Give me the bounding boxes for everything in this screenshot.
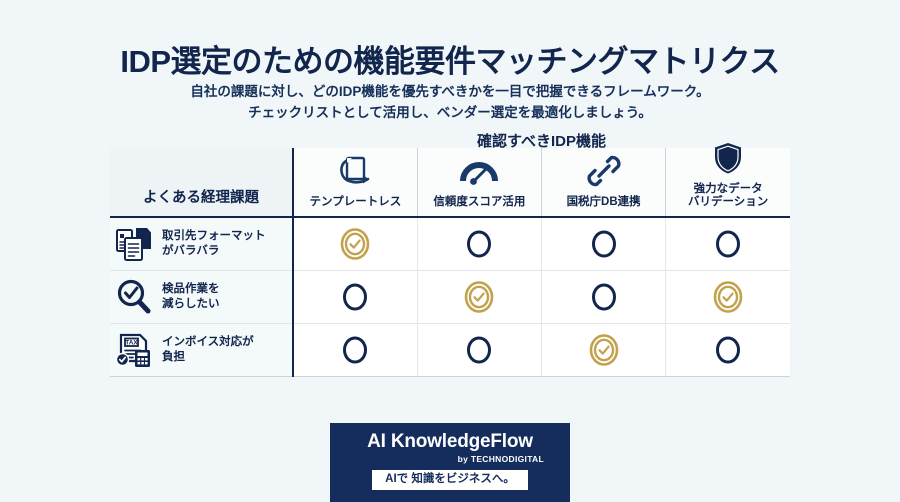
mark-cell — [293, 217, 417, 270]
logo-product-name: AI KnowledgeFlow — [367, 432, 533, 451]
issue-cell-inspection-workload: 検品作業を 減らしたい — [110, 270, 293, 323]
mark-circle — [418, 218, 541, 270]
matrix-table: よくある経理課題 テンプレートレス — [110, 148, 790, 377]
subtitle-line-2: チェックリストとして活用し、ベンダー選定を最適化しましょう。 — [0, 103, 900, 124]
issue-label: インボイス対応が 負担 — [162, 335, 254, 364]
feature-column-nta-db-link: 国税庁DB連携 — [542, 148, 666, 217]
gauge-icon — [459, 156, 499, 193]
issue-label: 検品作業を 減らしたい — [162, 282, 220, 311]
subtitle-line-1: 自社の課題に対し、どのIDP機能を優先すべきかを一目で把握できるフレームワーク。 — [0, 82, 900, 103]
mark-gold-check — [418, 271, 541, 323]
mark-circle — [542, 271, 665, 323]
magnifier-check-icon — [114, 277, 154, 317]
matrix-body: 取引先フォーマット がバラバラ — [110, 217, 790, 376]
feature-label: 国税庁DB連携 — [567, 196, 641, 210]
table-row: 検品作業を 減らしたい — [110, 270, 790, 323]
mark-cell — [666, 217, 790, 270]
mark-cell — [666, 323, 790, 376]
mark-cell — [293, 323, 417, 376]
mark-cell — [417, 217, 541, 270]
mark-cell — [293, 270, 417, 323]
feature-label: 信頼度スコア活用 — [433, 196, 525, 210]
table-row: TAX — [110, 323, 790, 376]
feature-column-confidence-score: 信頼度スコア活用 — [417, 148, 541, 217]
stacked-documents-icon — [114, 224, 154, 264]
page-subtitle: 自社の課題に対し、どのIDP機能を優先すべきかを一目で把握できるフレームワーク。… — [0, 82, 900, 124]
document-rotate-icon — [336, 154, 374, 193]
logo-company-name: by TECHNODIGITAL — [458, 454, 544, 464]
mark-circle — [418, 324, 541, 376]
table-row: 取引先フォーマット がバラバラ — [110, 217, 790, 270]
mark-gold-check — [542, 324, 665, 376]
logo-tagline: AIで 知識をビジネスへ。 — [372, 470, 528, 490]
feature-label: 強力なデータ バリデーション — [688, 183, 768, 210]
matrix-header: よくある経理課題 テンプレートレス — [110, 148, 790, 217]
shield-icon — [712, 141, 744, 180]
mark-circle — [666, 218, 790, 270]
matrix-header-row: よくある経理課題 テンプレートレス — [110, 148, 790, 217]
issue-label: 取引先フォーマット がバラバラ — [162, 229, 266, 258]
mark-circle — [294, 324, 417, 376]
mark-circle — [666, 324, 790, 376]
issue-cell-format-variance: 取引先フォーマット がバラバラ — [110, 217, 293, 270]
svg-text:TAX: TAX — [125, 339, 138, 346]
mark-gold-check — [294, 218, 417, 270]
feature-label: テンプレートレス — [310, 196, 402, 210]
mark-cell — [417, 323, 541, 376]
tax-calculator-icon: TAX — [114, 330, 154, 370]
mark-circle — [542, 218, 665, 270]
issue-column-header: よくある経理課題 — [110, 148, 293, 217]
mark-cell — [542, 217, 666, 270]
requirements-matrix: よくある経理課題 テンプレートレス — [110, 148, 790, 377]
page-title: IDP選定のための機能要件マッチングマトリクス — [0, 36, 900, 81]
issue-cell-invoice-burden: TAX — [110, 323, 293, 376]
chain-link-icon — [587, 154, 621, 193]
feature-column-data-validation: 強力なデータ バリデーション — [666, 148, 790, 217]
mark-cell — [417, 270, 541, 323]
brand-logo: AI KnowledgeFlow by TECHNODIGITAL AIで 知識… — [330, 423, 570, 502]
mark-gold-check — [666, 271, 790, 323]
feature-column-templateless: テンプレートレス — [293, 148, 417, 217]
mark-cell — [542, 270, 666, 323]
mark-circle — [294, 271, 417, 323]
mark-cell — [542, 323, 666, 376]
mark-cell — [666, 270, 790, 323]
